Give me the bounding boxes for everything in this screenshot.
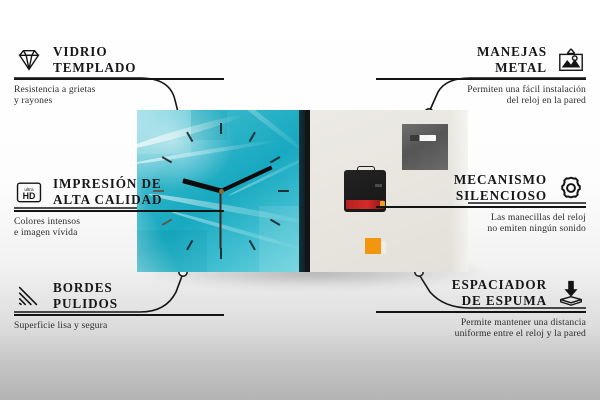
feature-mecanismo-silencioso: MECANISMO SILENCIOSO Las manecillas del … (376, 172, 586, 235)
feature-title-line2: SILENCIOSO (454, 188, 547, 204)
feature-divider (376, 78, 586, 80)
feature-title-line1: IMPRESIÓN DE (53, 176, 162, 192)
foam-spacer (365, 238, 381, 254)
feature-title-line2: TEMPLADO (53, 60, 136, 76)
feature-desc-line2: y rayones (14, 95, 224, 107)
feature-desc-line1: Las manecillas del reloj (376, 212, 586, 224)
feature-title-line2: DE ESPUMA (452, 293, 547, 309)
feature-desc-line1: Resistencia a grietas (14, 84, 224, 96)
feature-divider (14, 210, 224, 212)
feature-desc-line2: uniforme entre el reloj y la pared (376, 328, 586, 340)
feature-title-line1: ESPACIADOR (452, 277, 547, 293)
feature-desc-line1: Permiten una fácil instalación (376, 84, 586, 96)
metal-hanger-plate (402, 124, 448, 170)
gear-icon (556, 174, 586, 202)
feature-desc-line1: Superficie lisa y segura (14, 320, 224, 332)
clock-minute-hand (220, 166, 272, 193)
feature-impresion-alta-calidad: ultra HD IMPRESIÓN DE ALTA CALIDAD Color… (14, 176, 224, 239)
feature-desc-line2: no emiten ningún sonido (376, 223, 586, 235)
feature-vidrio-templado: VIDRIO TEMPLADO Resistencia a grietas y … (14, 44, 224, 107)
feature-title-line1: MECANISMO (454, 172, 547, 188)
feature-desc-line2: e imagen vívida (14, 227, 224, 239)
feature-title-line2: ALTA CALIDAD (53, 192, 162, 208)
infographic-canvas: VIDRIO TEMPLADO Resistencia a grietas y … (0, 0, 600, 400)
polished-edge-icon (14, 282, 44, 310)
feature-desc-line2: del reloj en la pared (376, 95, 586, 107)
feature-desc-line1: Permite mantener una distancia (376, 317, 586, 329)
feature-title-line2: PULIDOS (53, 296, 118, 312)
feature-bordes-pulidos: BORDES PULIDOS Superficie lisa y segura (14, 280, 224, 331)
feature-divider (376, 311, 586, 313)
feature-title-line1: BORDES (53, 280, 118, 296)
feature-manejas-metal: MANEJAS METAL Permiten una fácil instala… (376, 44, 586, 107)
ultra-hd-icon: ultra HD (14, 178, 44, 206)
feature-espaciador-espuma: ESPACIADOR DE ESPUMA Permite mantener un… (376, 277, 586, 340)
picture-frame-hanger-icon (556, 46, 586, 74)
svg-text:HD: HD (23, 191, 36, 201)
diamond-icon (14, 46, 44, 74)
feature-desc-line1: Colores intensos (14, 216, 224, 228)
feature-divider (14, 78, 224, 80)
feature-divider (376, 206, 586, 208)
foam-spacer-arrow-icon (556, 279, 586, 307)
feature-title-line1: VIDRIO (53, 44, 136, 60)
feature-title-line1: MANEJAS (477, 44, 547, 60)
feature-title-line2: METAL (477, 60, 547, 76)
feature-divider (14, 314, 224, 316)
